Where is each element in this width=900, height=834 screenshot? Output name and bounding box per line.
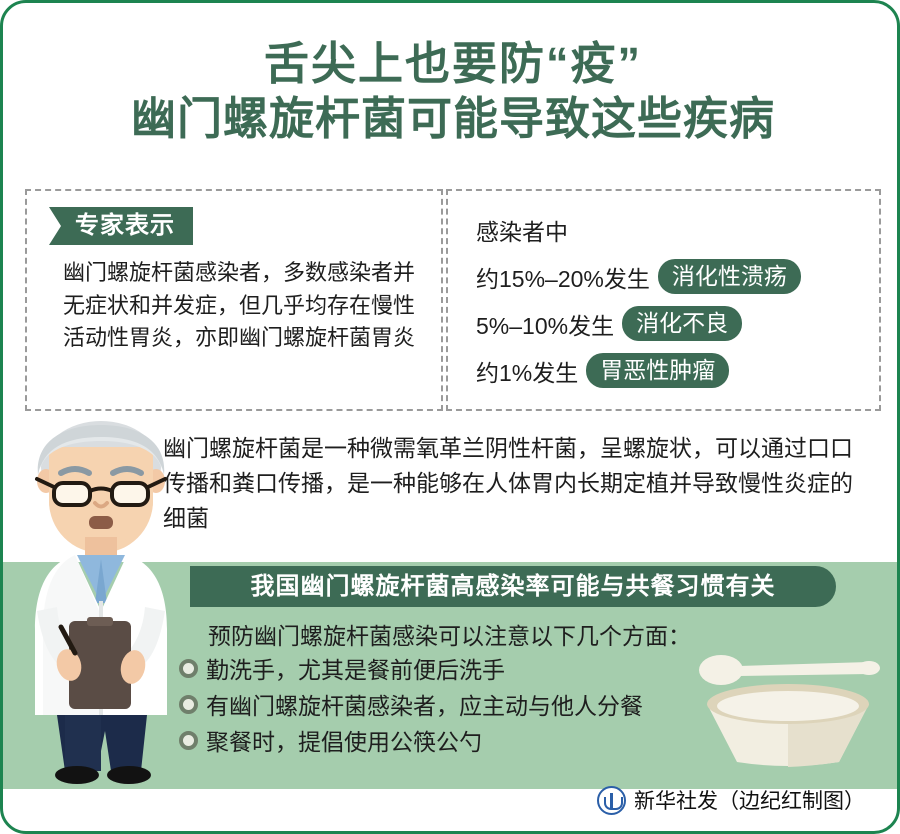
prevention-item-label: 有幽门螺旋杆菌感染者，应主动与他人分餐	[206, 687, 643, 721]
list-item: 聚餐时，提倡使用公筷公勺	[179, 723, 699, 757]
infection-statistics-panel: 感染者中 约15%–20%发生 消化性溃疡 5%–10%发生 消化不良 约1%发…	[446, 189, 881, 411]
expert-tag-label: 专家表示	[49, 207, 193, 245]
statistic-rate: 约15%–20%发生	[476, 260, 650, 294]
title-line-1: 舌尖上也要防“疫”	[3, 37, 900, 92]
list-item: 有幽门螺旋杆菌感染者，应主动与他人分餐	[179, 687, 699, 721]
expert-statement-text: 幽门螺旋杆菌感染者，多数感染者并无症状和并发症，但几乎均存在慢性活动性胃炎，亦即…	[63, 257, 423, 355]
statistic-row: 约1%发生 胃恶性肿瘤	[476, 347, 876, 394]
prevention-item-label: 聚餐时，提倡使用公筷公勺	[206, 723, 482, 757]
title-line-2: 幽门螺旋杆菌可能导致这些疾病	[3, 92, 900, 147]
prevention-item-label: 勤洗手，尤其是餐前便后洗手	[206, 651, 505, 685]
prevention-list: 勤洗手，尤其是餐前便后洗手 有幽门螺旋杆菌感染者，应主动与他人分餐 聚餐时，提倡…	[179, 651, 699, 759]
statistic-rate: 5%–10%发生	[476, 307, 614, 341]
prevention-heading: 预防幽门螺旋杆菌感染可以注意以下几个方面：	[208, 617, 691, 651]
list-item: 勤洗手，尤其是餐前便后洗手	[179, 651, 699, 685]
expert-statement-panel: 专家表示 幽门螺旋杆菌感染者，多数感染者并无症状和并发症，但几乎均存在慢性活动性…	[25, 189, 443, 411]
statistics-rows: 约15%–20%发生 消化性溃疡 5%–10%发生 消化不良 约1%发生 胃恶性…	[476, 253, 876, 394]
statistic-row: 约15%–20%发生 消化性溃疡	[476, 253, 876, 300]
xinhua-logo-icon	[597, 786, 626, 815]
statistic-rate: 约1%发生	[476, 354, 578, 388]
statistic-disease-badge: 胃恶性肿瘤	[586, 353, 729, 388]
infographic-poster: 舌尖上也要防“疫” 幽门螺旋杆菌可能导致这些疾病 专家表示 幽门螺旋杆菌感染者，…	[0, 0, 900, 834]
infection-rate-banner: 我国幽门螺旋杆菌高感染率可能与共餐习惯有关	[190, 566, 836, 607]
statistic-row: 5%–10%发生 消化不良	[476, 300, 876, 347]
statistic-disease-badge: 消化性溃疡	[658, 259, 801, 294]
doctor-illustration	[13, 415, 193, 790]
statistic-disease-badge: 消化不良	[622, 306, 742, 341]
credit-text: 新华社发（边纪红制图）	[634, 785, 865, 815]
bacteria-description-text: 幽门螺旋杆菌是一种微需氧革兰阴性杆菌，呈螺旋状，可以通过口口传播和粪口传播，是一…	[163, 431, 875, 536]
page-title: 舌尖上也要防“疫” 幽门螺旋杆菌可能导致这些疾病	[3, 37, 900, 147]
bowl-and-spoon-illustration	[693, 648, 883, 773]
statistics-heading: 感染者中	[476, 213, 568, 247]
footer-credit: 新华社发（边纪红制图）	[597, 785, 865, 815]
